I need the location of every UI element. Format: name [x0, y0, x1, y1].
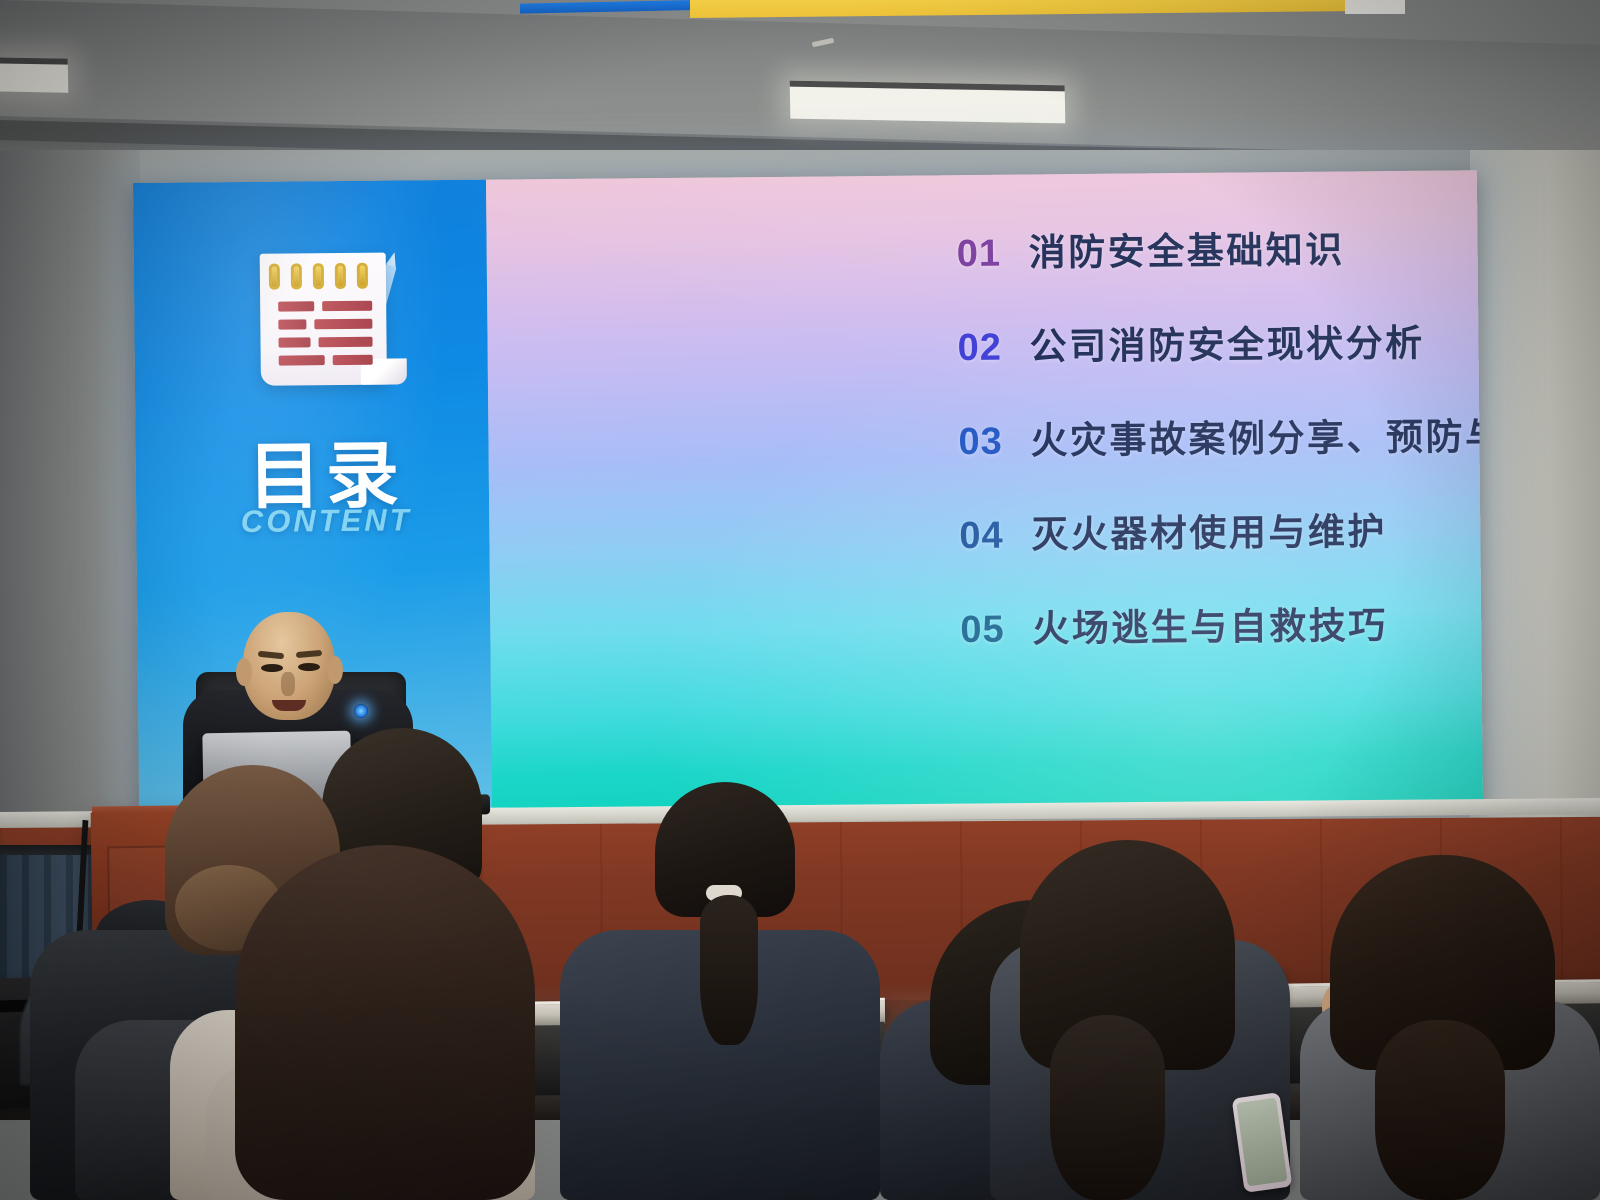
presenter-ear-left: [236, 658, 252, 686]
ceiling-light-center: [790, 81, 1066, 124]
audience-ponytail: [700, 895, 758, 1045]
lecture-room-scene: 目录 CONTENT 01 消防安全基础知识 02 公司消防安全现状分析 03 …: [0, 0, 1600, 1200]
slide-right-panel: 01 消防安全基础知识 02 公司消防安全现状分析 03 火灾事故案例分享、预防…: [486, 170, 1483, 813]
notepad-icon: [241, 230, 413, 407]
phone-screen: [1236, 1098, 1287, 1187]
audience-ponytail: [1375, 1020, 1505, 1200]
slide-title: 目录: [195, 416, 456, 524]
top-banner-yellow: [690, 0, 1350, 18]
slide-subtitle: CONTENT: [196, 502, 456, 540]
presenter-eye-right: [298, 663, 320, 671]
audience-ponytail: [1050, 1015, 1165, 1200]
list-item: 05 火场逃生与自救技巧: [960, 591, 1483, 693]
item-label: 灭火器材使用与维护: [1031, 501, 1387, 558]
presenter-nose: [281, 672, 295, 696]
list-item: 02 公司消防安全现状分析: [957, 309, 1483, 411]
item-label: 消防安全基础知识: [1028, 219, 1345, 276]
item-number: 01: [957, 232, 1029, 276]
audience-head: [235, 845, 535, 1200]
item-label: 火灾事故案例分享、预防与应对措施: [1030, 404, 1483, 464]
table-of-contents-list: 01 消防安全基础知识 02 公司消防安全现状分析 03 火灾事故案例分享、预防…: [956, 215, 1483, 693]
item-number: 04: [959, 514, 1031, 558]
notepad-curl: [361, 358, 407, 384]
top-banner-blue: [520, 0, 695, 14]
list-item: 03 火灾事故案例分享、预防与应对措施: [958, 403, 1483, 505]
item-label: 公司消防安全现状分析: [1029, 313, 1425, 371]
wall-right-panel: [1470, 150, 1600, 850]
item-number: 02: [957, 326, 1029, 370]
badge-light: [354, 704, 368, 718]
presenter-eye-left: [261, 664, 283, 672]
presenter-ear-right: [327, 656, 343, 684]
item-number: 03: [958, 420, 1030, 464]
pen-icon: [355, 263, 397, 380]
wall-left-shadow: [0, 150, 140, 850]
list-item: 04 灭火器材使用与维护: [959, 497, 1483, 599]
list-item: 01 消防安全基础知识: [956, 215, 1483, 317]
item-number: 05: [960, 608, 1032, 652]
item-label: 火场逃生与自救技巧: [1032, 595, 1388, 652]
top-banner-right-edge: [1345, 0, 1405, 14]
notepad-body: [260, 253, 387, 386]
ceiling-light-left: [0, 57, 68, 92]
